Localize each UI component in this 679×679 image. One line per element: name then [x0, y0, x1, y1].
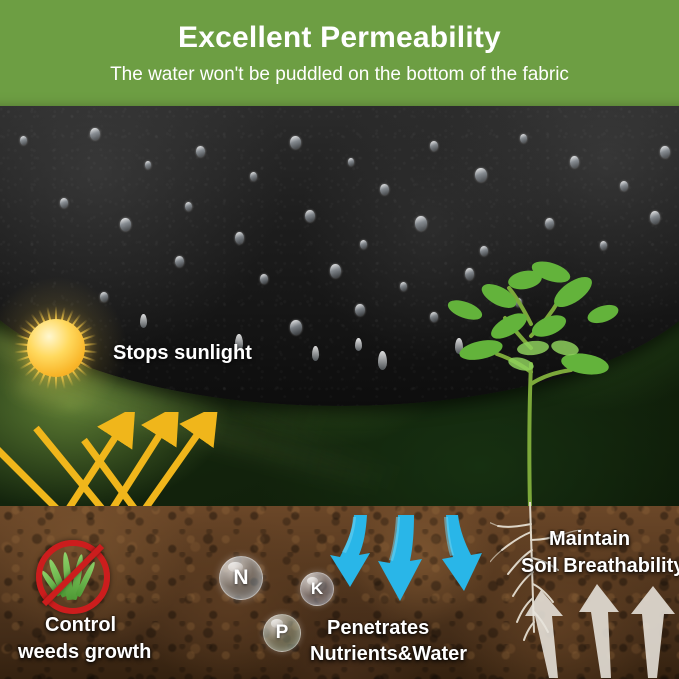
header-banner: Excellent Permeability The water won't b… [0, 0, 679, 106]
water-droplet [290, 320, 302, 335]
penetrates-label-line1: Penetrates [327, 617, 429, 640]
sun-core [27, 319, 85, 377]
water-droplet [290, 136, 301, 149]
hanging-drip [140, 314, 147, 328]
potassium-bubble: K [300, 572, 334, 606]
water-droplet [570, 156, 579, 168]
penetrates-label-line2: Nutrients&Water [310, 643, 467, 666]
water-droplet [355, 304, 365, 316]
upward-air-arrows [525, 582, 679, 679]
hanging-drip [378, 351, 387, 370]
water-droplet [196, 146, 205, 157]
nutrient-symbol: P [276, 622, 289, 644]
water-droplet [650, 211, 660, 224]
water-droplet [60, 198, 68, 208]
water-droplet [400, 282, 407, 291]
water-droplet [235, 232, 244, 244]
water-droplet [660, 146, 670, 158]
water-droplet [20, 136, 27, 145]
water-droplet [330, 264, 341, 278]
water-droplet [250, 172, 257, 181]
nutrient-symbol: K [311, 579, 323, 599]
water-droplet [260, 274, 268, 284]
water-droplet [380, 184, 389, 195]
water-droplet [185, 202, 192, 211]
breathability-label-line2: Soil Breathability [521, 555, 679, 578]
downward-water-arrows [330, 515, 490, 625]
water-droplet [415, 216, 427, 231]
water-droplet [175, 256, 184, 267]
water-droplet [348, 158, 354, 166]
page-title: Excellent Permeability [178, 23, 501, 53]
nitrogen-bubble: N [219, 556, 263, 600]
breathability-label-line1: Maintain [549, 528, 630, 551]
water-droplet [545, 218, 554, 229]
seedling-plant [425, 252, 655, 512]
sun-icon [8, 300, 104, 396]
water-droplet [360, 240, 367, 249]
water-droplet [305, 210, 315, 222]
water-droplet [120, 218, 131, 231]
no-weeds-icon [36, 540, 110, 614]
product-infographic: Excellent Permeability The water won't b… [0, 0, 679, 679]
water-droplet [520, 134, 527, 143]
water-droplet [145, 161, 151, 169]
water-droplet [475, 168, 487, 182]
water-droplet [600, 241, 607, 250]
water-droplet [430, 141, 438, 151]
water-droplet [90, 128, 100, 140]
nutrient-symbol: N [233, 566, 248, 590]
hanging-drip [312, 346, 319, 361]
phosphorus-bubble: P [263, 614, 301, 652]
falling-water-droplet [355, 338, 362, 351]
control-weeds-label-line2: weeds growth [18, 641, 151, 664]
control-weeds-label-line1: Control [45, 614, 116, 637]
page-subtitle: The water won't be puddled on the bottom… [110, 65, 569, 84]
stops-sunlight-label: Stops sunlight [113, 342, 252, 365]
water-droplet [620, 181, 628, 191]
